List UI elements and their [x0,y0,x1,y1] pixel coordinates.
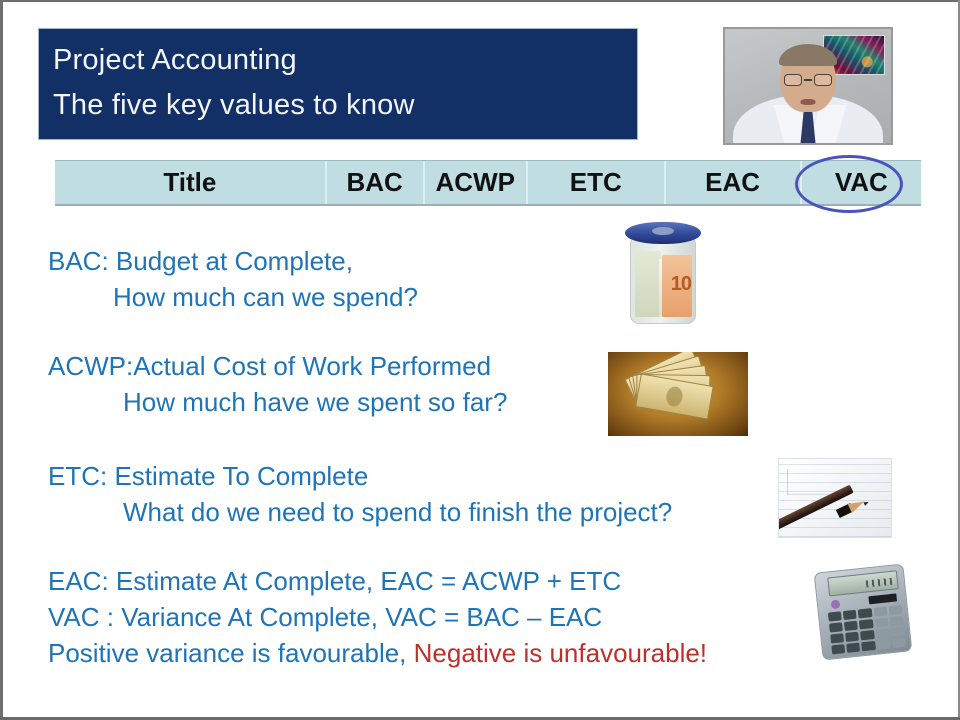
tab-vac[interactable]: VAC [802,161,921,204]
summary-variance-negative: Negative is unfavourable! [414,638,707,668]
slide-title-line-1: Project Accounting [53,38,637,83]
frame-border-left [0,0,3,720]
pen-chart-image [778,458,892,538]
frame-border-top [0,0,960,2]
summary-variance-positive: Positive variance is favourable, [48,638,414,668]
calculator-power-key [831,599,841,609]
cash-image [608,352,748,436]
presenter-webcam[interactable] [723,27,893,145]
calculator-image [812,560,916,664]
banknote-green [635,251,661,317]
presenter-mouth [801,99,816,105]
definition-detail-bac: How much can we spend? [48,279,418,315]
jar-glass [630,238,696,324]
tab-eac[interactable]: EAC [666,161,802,204]
calculator-body [814,564,913,661]
section-tab-bar[interactable]: Title BAC ACWP ETC EAC VAC [55,160,921,206]
definition-term-acwp: ACWP:Actual Cost of Work Performed [48,348,507,384]
summary-block: EAC: Estimate At Complete, EAC = ACWP + … [48,563,707,671]
calculator-display [827,570,899,596]
slide-title-block: Project Accounting The five key values t… [38,28,638,140]
calculator-keypad [828,605,906,655]
slide-canvas: Project Accounting The five key values t… [0,0,960,720]
slide-title-line-2: The five key values to know [53,83,637,128]
jar-coin-slot [652,227,674,235]
definition-term-etc: ETC: Estimate To Complete [48,458,672,494]
money-jar-image [620,208,706,330]
summary-line-vac: VAC : Variance At Complete, VAC = BAC – … [48,599,707,635]
tab-acwp[interactable]: ACWP [425,161,528,204]
summary-line-eac: EAC: Estimate At Complete, EAC = ACWP + … [48,563,707,599]
definition-block-bac: BAC: Budget at Complete, How much can we… [48,243,418,315]
definition-block-acwp: ACWP:Actual Cost of Work Performed How m… [48,348,507,420]
definition-block-etc: ETC: Estimate To Complete What do we nee… [48,458,672,530]
glasses-icon [783,74,833,86]
definition-detail-etc: What do we need to spend to finish the p… [48,494,672,530]
tab-bac[interactable]: BAC [327,161,425,204]
definition-detail-acwp: How much have we spent so far? [48,384,507,420]
calculator-solar-panel [868,593,897,604]
summary-line-variance: Positive variance is favourable, Negativ… [48,635,707,671]
document-graph [787,469,833,495]
definition-term-bac: BAC: Budget at Complete, [48,243,418,279]
tab-title[interactable]: Title [55,161,327,204]
tab-etc[interactable]: ETC [528,161,666,204]
banknote-ten-euro [662,255,692,317]
